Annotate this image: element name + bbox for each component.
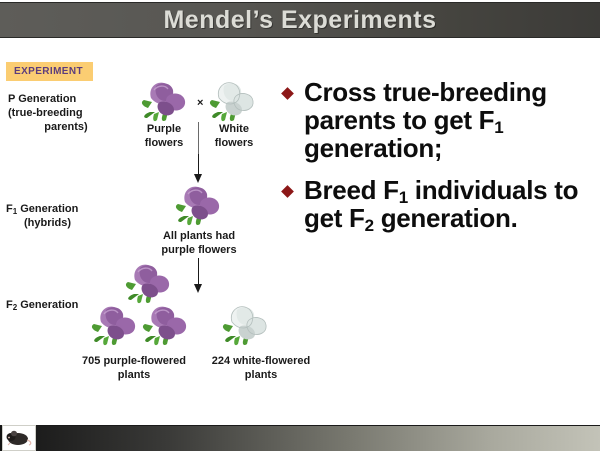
footer-bar xyxy=(0,425,600,451)
bullet-2-sub: 1 xyxy=(399,188,408,207)
bullet-1-sub: 1 xyxy=(494,118,503,137)
f2-purple-caption: 705 purple-flowered plants xyxy=(68,355,200,383)
purple-flowers-caption: Purple flowers xyxy=(133,123,195,151)
diamond-bullet-icon xyxy=(281,185,294,198)
f2-white-flower-icon xyxy=(219,302,273,348)
arrow-f1-to-f2-line xyxy=(198,258,199,286)
page-title: Mendel’s Experiments xyxy=(163,8,436,33)
bullet-item-2: Breed F1 individuals to get F2 generatio… xyxy=(283,176,595,232)
f1-caption-line2: purple flowers xyxy=(161,244,236,256)
f2-white-caption-line2: plants xyxy=(245,369,277,381)
bullet-item-2-text: Breed F1 individuals to get F2 generatio… xyxy=(304,176,595,232)
f2-purple-caption-line2: plants xyxy=(118,369,150,381)
slide-title-bar: Mendel’s Experiments xyxy=(0,2,600,38)
bullet-2-part3: generation. xyxy=(374,203,518,233)
arrow-p-to-f1-line xyxy=(198,154,199,176)
experiment-badge: EXPERIMENT xyxy=(6,62,93,81)
white-flowers-caption: White flowers xyxy=(203,123,265,151)
purple-flowers-caption-line1: Purple xyxy=(147,123,181,135)
caption-divider xyxy=(198,122,199,156)
purple-flowers-caption-line2: flowers xyxy=(145,137,184,149)
f2-white-caption-line1: 224 white-flowered xyxy=(212,355,310,367)
mouse-icon[interactable] xyxy=(2,425,36,451)
p-generation-label-line3: parents) xyxy=(8,120,124,134)
bullet-list: Cross true-breeding parents to get F1 ge… xyxy=(283,78,595,246)
f2-purple-flower-icon-1 xyxy=(122,260,176,306)
p-generation-label-line1: P Generation xyxy=(8,92,124,106)
f2-purple-caption-line1: 705 purple-flowered xyxy=(82,355,186,367)
bullet-1-part1: Cross true-breeding parents to get F xyxy=(304,77,547,135)
f1-purple-flower-icon xyxy=(172,182,226,228)
f2-white-caption: 224 white-flowered plants xyxy=(201,355,321,383)
white-flowers-caption-line2: flowers xyxy=(215,137,254,149)
f2-purple-flower-icon-2 xyxy=(88,302,142,348)
f1-generation-label-line1: F1 Generation xyxy=(6,203,78,215)
f1-caption: All plants had purple flowers xyxy=(139,230,259,258)
arrow-f1-to-f2-head xyxy=(194,284,202,293)
bullet-1-part2: generation; xyxy=(304,133,442,163)
f1-caption-line1: All plants had xyxy=(163,230,235,242)
p-generation-label: P Generation (true-breeding parents) xyxy=(8,92,124,134)
f2-generation-label-text: F2 Generation xyxy=(6,299,78,311)
f1-generation-label-line2: (hybrids) xyxy=(6,216,126,230)
f2-purple-flower-icon-3 xyxy=(139,302,193,348)
cross-symbol: × xyxy=(197,97,203,109)
bullet-item-1: Cross true-breeding parents to get F1 ge… xyxy=(283,78,595,162)
bullet-2-sub2: 2 xyxy=(365,216,374,235)
purple-flower-icon xyxy=(138,78,192,124)
white-flowers-caption-line1: White xyxy=(219,123,249,135)
p-generation-label-line2: (true-breeding xyxy=(8,106,124,120)
bullet-2-part1: Breed F xyxy=(304,175,399,205)
bullet-item-1-text: Cross true-breeding parents to get F1 ge… xyxy=(304,78,595,162)
f1-generation-label: F1 Generation (hybrids) xyxy=(6,202,126,230)
diamond-bullet-icon xyxy=(281,87,294,100)
experiment-figure: EXPERIMENT P Generation (true-breeding p… xyxy=(0,50,320,400)
white-flower-icon xyxy=(206,78,260,124)
